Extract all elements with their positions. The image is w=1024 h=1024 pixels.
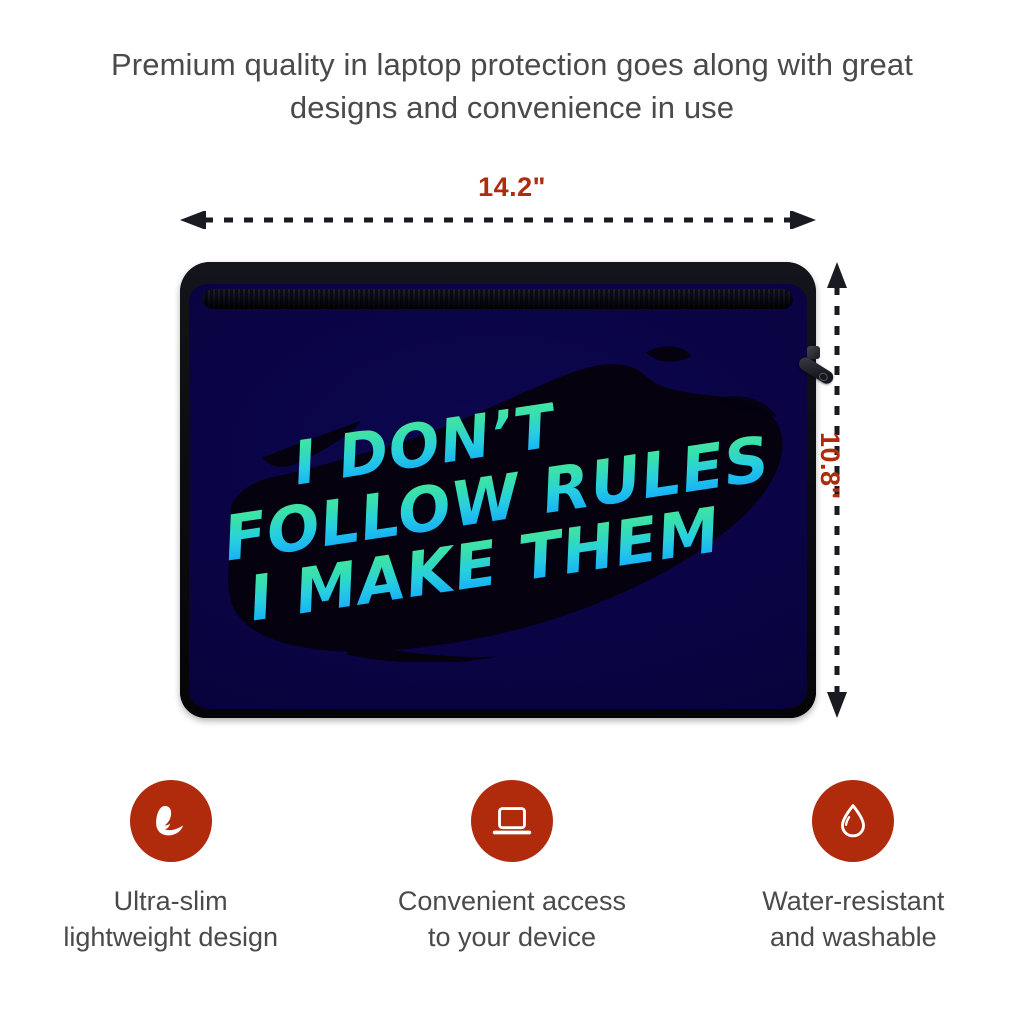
- height-dimension-label: 10.8": [814, 432, 845, 500]
- sleeve-artwork-text: I DON’T FOLLOW RULES I MAKE THEM: [189, 284, 807, 709]
- feature-item-water-resistant: Water-resistant and washable: [683, 780, 1024, 955]
- laptop-icon: [489, 798, 535, 844]
- feature-item-convenient-access: Convenient access to your device: [341, 780, 682, 955]
- feather-icon: [148, 798, 194, 844]
- sleeve-body: I DON’T FOLLOW RULES I MAKE THEM: [180, 262, 816, 718]
- width-dimension-label: 14.2": [0, 172, 1024, 203]
- feature-caption: Convenient access to your device: [398, 884, 626, 955]
- zipper-slider: [807, 346, 820, 359]
- laptop-sleeve-product: I DON’T FOLLOW RULES I MAKE THEM: [180, 262, 816, 718]
- headline-text: Premium quality in laptop protection goe…: [60, 44, 964, 130]
- feature-icon-badge: [471, 780, 553, 862]
- feature-list: Ultra-slim lightweight design Convenient…: [0, 780, 1024, 955]
- sleeve-printed-face: I DON’T FOLLOW RULES I MAKE THEM: [189, 284, 807, 709]
- feature-item-ultra-slim: Ultra-slim lightweight design: [0, 780, 341, 955]
- feature-caption: Water-resistant and washable: [762, 884, 944, 955]
- feature-caption: Ultra-slim lightweight design: [63, 884, 278, 955]
- feature-icon-badge: [812, 780, 894, 862]
- product-infographic: Premium quality in laptop protection goe…: [0, 0, 1024, 1024]
- zipper-teeth: [203, 289, 793, 309]
- width-dimension-arrow: [180, 211, 816, 229]
- feature-icon-badge: [130, 780, 212, 862]
- water-drop-icon: [830, 798, 876, 844]
